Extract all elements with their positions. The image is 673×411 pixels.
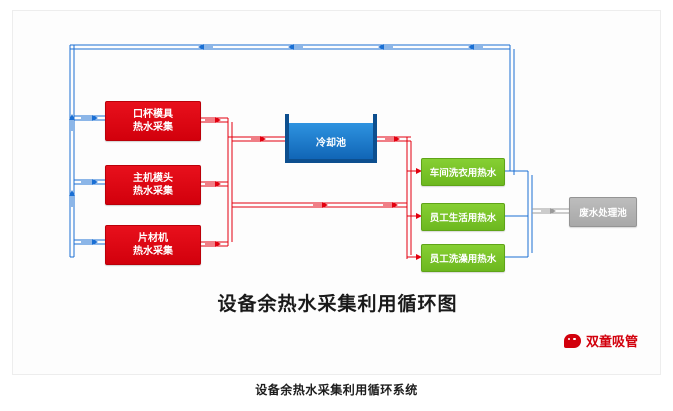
waste-treatment-box[interactable]: 废水处理池 [569,197,637,227]
screenshot-canvas: 口杯模具 热水采集 主机模头 热水采集 片材机 热水采集 冷却池 车间洗衣用热水… [0,0,673,411]
use-box-2-label: 员工生活用热水 [430,210,497,224]
watermark-text: 双童吸管 [586,331,638,350]
use-box-3-label: 员工洗澡用热水 [430,251,497,265]
use-box-1[interactable]: 车间洗衣用热水 [421,158,505,186]
figure-caption: 设备余热水采集利用循环系统 [0,381,673,398]
use-box-2[interactable]: 员工生活用热水 [421,203,505,231]
diagram-title: 设备余热水采集利用循环图 [13,289,662,316]
use-box-3[interactable]: 员工洗澡用热水 [421,244,505,272]
waste-treatment-label: 废水处理池 [579,205,627,219]
source-box-1-line1: 口杯模具 [133,108,173,121]
wechat-icon [564,334,581,348]
process-diagram: 口杯模具 热水采集 主机模头 热水采集 片材机 热水采集 冷却池 车间洗衣用热水… [12,10,661,375]
source-box-1[interactable]: 口杯模具 热水采集 [105,101,201,141]
source-box-3[interactable]: 片材机 热水采集 [105,225,201,265]
source-box-1-line2: 热水采集 [133,121,173,134]
tank-wall-bottom [285,159,377,163]
cooling-tank[interactable]: 冷却池 [285,114,377,163]
source-box-2-line2: 热水采集 [133,185,173,198]
source-box-2-line1: 主机模头 [133,172,173,185]
source-box-3-line2: 热水采集 [133,245,173,258]
watermark: 双童吸管 [564,331,638,350]
use-box-1-label: 车间洗衣用热水 [430,165,497,179]
source-box-3-line1: 片材机 [138,232,168,245]
source-box-2[interactable]: 主机模头 热水采集 [105,165,201,205]
tank-label: 冷却池 [285,134,377,149]
